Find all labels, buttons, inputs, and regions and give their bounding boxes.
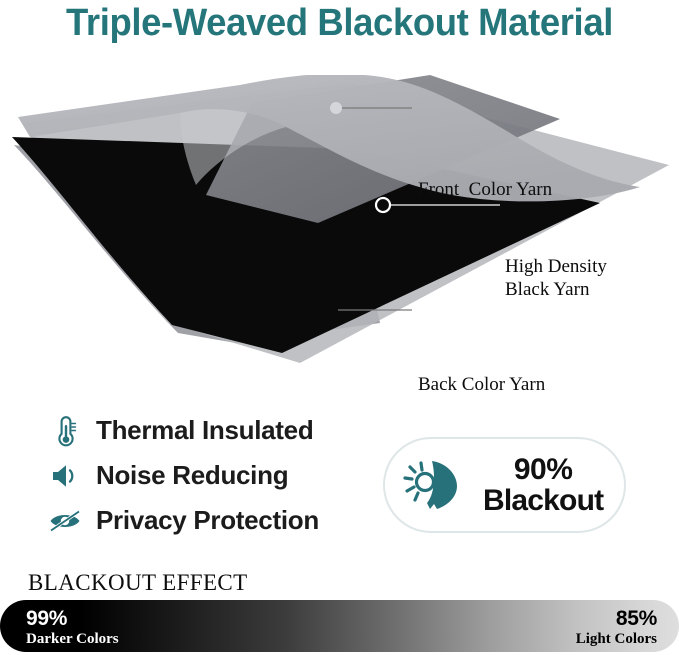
label-high-density-black-yarn: High Density Black Yarn bbox=[505, 255, 607, 301]
blackout-badge-text: 90% Blackout bbox=[483, 454, 603, 516]
blackout-badge: 90% Blackout bbox=[383, 437, 626, 533]
page-title: Triple-Weaved Blackout Material bbox=[14, 2, 666, 45]
light-colors-percent: 85% bbox=[576, 608, 657, 629]
leader-ring-high-density bbox=[376, 198, 390, 212]
label-front-color-yarn: Front Color Yarn bbox=[418, 178, 552, 201]
light-colors-caption: Light Colors bbox=[576, 631, 657, 648]
sun-behind-curtain-icon bbox=[399, 454, 477, 516]
feature-label-privacy-protection: Privacy Protection bbox=[96, 505, 319, 536]
feature-label-noise-reducing: Noise Reducing bbox=[96, 460, 288, 491]
feature-thermal-insulated: Thermal Insulated bbox=[46, 408, 376, 453]
blackout-percent: 90% bbox=[483, 454, 603, 485]
feature-noise-reducing: Noise Reducing bbox=[46, 453, 376, 498]
label-back-color-yarn: Back Color Yarn bbox=[418, 373, 545, 396]
blackout-effect-light: 85% Light Colors bbox=[576, 608, 657, 648]
darker-colors-caption: Darker Colors bbox=[26, 631, 119, 648]
feature-label-thermal-insulated: Thermal Insulated bbox=[96, 415, 313, 446]
leader-dot-front bbox=[331, 103, 342, 114]
feature-list: Thermal Insulated Noise Reducing Privacy… bbox=[46, 408, 376, 543]
blackout-effect-gradient-bar: 99% Darker Colors 85% Light Colors bbox=[0, 600, 679, 652]
blackout-effect-title: BLACKOUT EFFECT bbox=[28, 570, 248, 596]
blackout-effect-darker: 99% Darker Colors bbox=[26, 608, 119, 648]
thermometer-icon bbox=[46, 413, 86, 449]
eye-off-icon bbox=[46, 503, 86, 539]
speaker-sound-icon bbox=[46, 458, 86, 494]
darker-colors-percent: 99% bbox=[26, 608, 119, 629]
blackout-label: Blackout bbox=[483, 485, 603, 516]
fabric-layers-diagram: Front Color Yarn High Density Black Yarn… bbox=[0, 75, 679, 365]
feature-privacy-protection: Privacy Protection bbox=[46, 498, 376, 543]
